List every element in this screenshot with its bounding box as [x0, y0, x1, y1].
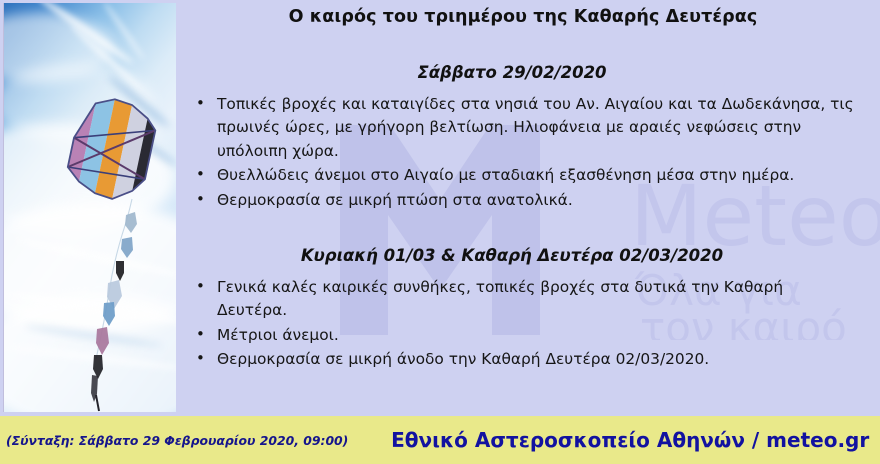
kite-illustration-icon — [4, 3, 176, 412]
kite-tail-flags-icon — [91, 212, 137, 402]
footer-bar: (Σύνταξη: Σάββατο 29 Φεβρουαρίου 2020, 0… — [0, 416, 880, 464]
list-item: Τοπικές βροχές και καταιγίδες στα νησιά … — [180, 93, 880, 163]
list-item: Θερμοκρασία σε μικρή πτώση στα ανατολικά… — [180, 189, 880, 212]
list-item: Θυελλώδεις άνεμοι στο Αιγαίο με σταδιακή… — [180, 164, 880, 187]
forecast-list-saturday: Τοπικές βροχές και καταιγίδες στα νησιά … — [180, 93, 880, 212]
section-heading-saturday: Σάββατο 29/02/2020 — [180, 63, 880, 82]
page-title: Ο καιρός του τριημέρου της Καθαρής Δευτέ… — [180, 0, 880, 27]
list-item: Μέτριοι άνεμοι. — [180, 324, 880, 347]
footer-organization: Εθνικό Αστεροσκοπείο Αθηνών / meteo.gr — [348, 428, 880, 452]
weather-forecast-slide: Meteo Όλα για τον καιρό — [0, 0, 880, 464]
forecast-content: Ο καιρός του τριημέρου της Καθαρής Δευτέ… — [180, 0, 880, 412]
forecast-list-sunday-monday: Γενικά καλές καιρικές συνθήκες, τοπικές … — [180, 276, 880, 372]
footer-credit: (Σύνταξη: Σάββατο 29 Φεβρουαρίου 2020, 0… — [0, 433, 348, 448]
list-item: Γενικά καλές καιρικές συνθήκες, τοπικές … — [180, 276, 880, 323]
kite-photo — [3, 3, 176, 412]
section-heading-sunday-monday: Κυριακή 01/03 & Καθαρή Δευτέρα 02/03/202… — [180, 246, 880, 265]
list-item: Θερμοκρασία σε μικρή άνοδο την Καθαρή Δε… — [180, 348, 880, 371]
